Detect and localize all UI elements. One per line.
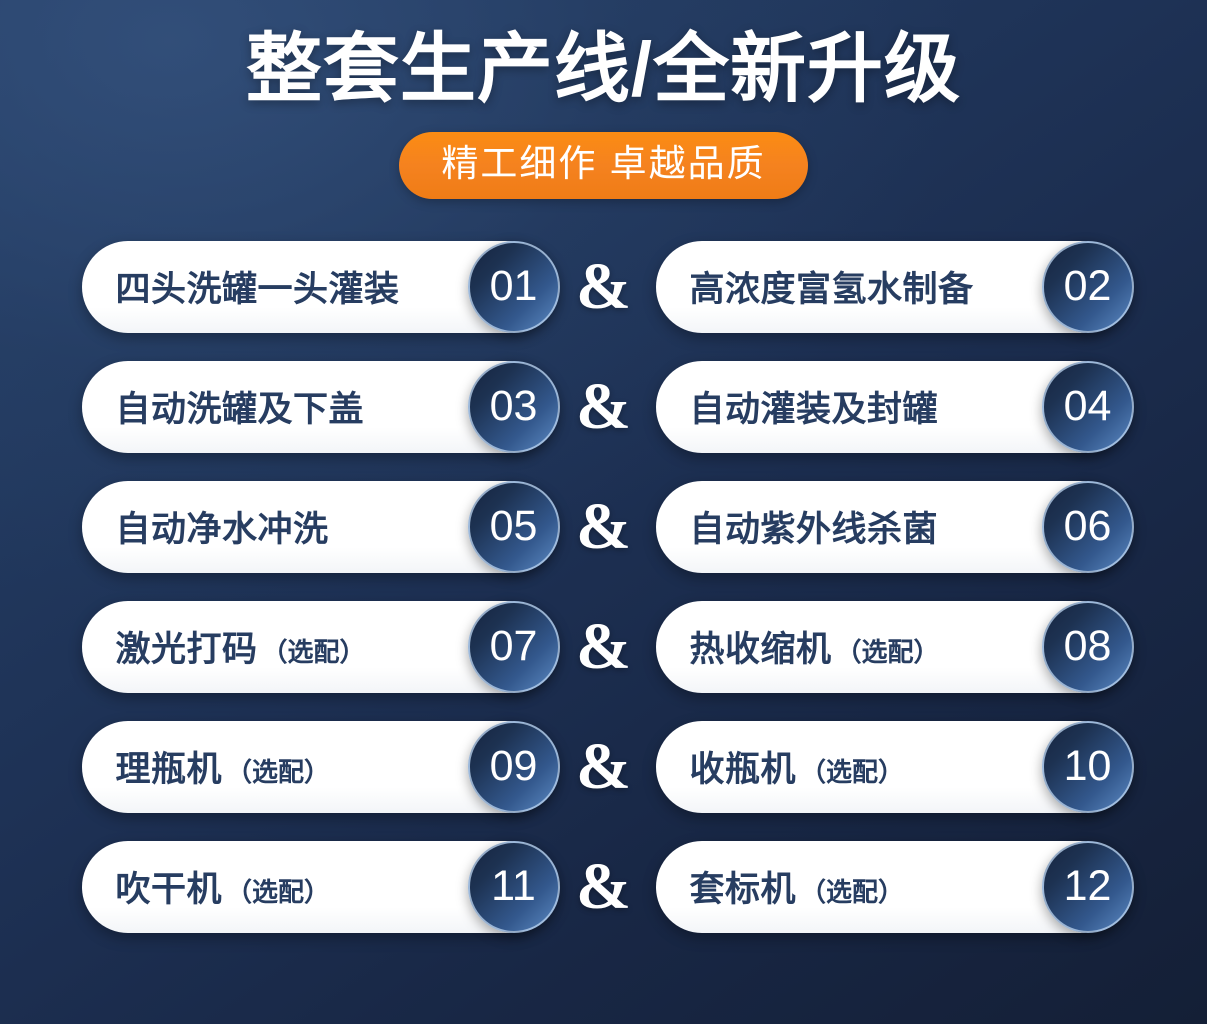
pill-number-badge: 11 — [468, 841, 560, 933]
feature-row: 理瓶机 （选配） 09 & 收瓶机 （选配） 10 — [0, 717, 1207, 817]
feature-pill-12[interactable]: 套标机 （选配） 12 — [656, 841, 1126, 933]
ampersand-separator: & — [552, 614, 656, 680]
pill-label: 收瓶机 （选配） — [690, 741, 905, 792]
pill-number-badge: 04 — [1042, 361, 1134, 453]
pill-label: 自动净水冲洗 — [116, 501, 333, 552]
pill-label-note: （选配） — [800, 752, 904, 789]
pill-number-badge: 05 — [468, 481, 560, 573]
pill-number-badge: 10 — [1042, 721, 1134, 813]
status-badge: 精工细作 卓越品质 — [399, 132, 807, 199]
feature-pill-08[interactable]: 热收缩机 （选配） 08 — [656, 601, 1126, 693]
feature-row: 四头洗罐一头灌装 01 & 高浓度富氢水制备 02 — [0, 237, 1207, 337]
feature-pill-11[interactable]: 吹干机 （选配） 11 — [82, 841, 552, 933]
pill-label-text: 热收缩机 — [690, 621, 832, 672]
pill-label-text: 自动灌装及封罐 — [690, 381, 939, 432]
pill-label: 自动洗罐及下盖 — [116, 381, 369, 432]
feature-pill-03[interactable]: 自动洗罐及下盖 03 — [82, 361, 552, 453]
pill-label-note: （选配） — [836, 632, 940, 669]
pill-label-text: 吹干机 — [116, 861, 223, 912]
pill-label: 套标机 （选配） — [690, 861, 905, 912]
pill-label-text: 四头洗罐一头灌装 — [116, 261, 400, 312]
feature-pill-06[interactable]: 自动紫外线杀菌 06 — [656, 481, 1126, 573]
pill-label-note: （选配） — [226, 752, 330, 789]
feature-pill-10[interactable]: 收瓶机 （选配） 10 — [656, 721, 1126, 813]
feature-row: 自动净水冲洗 05 & 自动紫外线杀菌 06 — [0, 477, 1207, 577]
feature-pill-09[interactable]: 理瓶机 （选配） 09 — [82, 721, 552, 813]
pill-label-text: 收瓶机 — [690, 741, 797, 792]
pill-number-badge: 12 — [1042, 841, 1134, 933]
feature-pill-05[interactable]: 自动净水冲洗 05 — [82, 481, 552, 573]
pill-label-text: 自动净水冲洗 — [116, 501, 329, 552]
pill-label-note: （选配） — [800, 872, 904, 909]
pill-label: 自动灌装及封罐 — [690, 381, 943, 432]
pill-label: 理瓶机 （选配） — [116, 741, 331, 792]
pill-number-badge: 08 — [1042, 601, 1134, 693]
pill-number-badge: 07 — [468, 601, 560, 693]
feature-pill-01[interactable]: 四头洗罐一头灌装 01 — [82, 241, 552, 333]
pill-number-badge: 02 — [1042, 241, 1134, 333]
feature-pill-02[interactable]: 高浓度富氢水制备 02 — [656, 241, 1126, 333]
page-header: 整套生产线/全新升级 精工细作 卓越品质 — [0, 0, 1207, 199]
feature-pill-07[interactable]: 激光打码 （选配） 07 — [82, 601, 552, 693]
ampersand-separator: & — [552, 374, 656, 440]
ampersand-separator: & — [552, 854, 656, 920]
pill-number-badge: 03 — [468, 361, 560, 453]
ampersand-separator: & — [552, 734, 656, 800]
feature-pill-04[interactable]: 自动灌装及封罐 04 — [656, 361, 1126, 453]
feature-row: 激光打码 （选配） 07 & 热收缩机 （选配） 08 — [0, 597, 1207, 697]
pill-label: 激光打码 （选配） — [116, 621, 366, 672]
pill-number-badge: 09 — [468, 721, 560, 813]
ampersand-separator: & — [552, 494, 656, 560]
pill-label-text: 高浓度富氢水制备 — [690, 261, 974, 312]
pill-label-note: （选配） — [262, 632, 366, 669]
subtitle-badge-container: 精工细作 卓越品质 — [0, 132, 1207, 199]
page-title: 整套生产线/全新升级 — [0, 28, 1207, 112]
pill-label-text: 自动紫外线杀菌 — [690, 501, 939, 552]
pill-label: 四头洗罐一头灌装 — [116, 261, 404, 312]
pill-label-text: 自动洗罐及下盖 — [116, 381, 365, 432]
ampersand-separator: & — [552, 254, 656, 320]
pill-label-note: （选配） — [226, 872, 330, 909]
feature-list: 四头洗罐一头灌装 01 & 高浓度富氢水制备 02 自动洗罐及下盖 03 & 自… — [0, 237, 1207, 937]
pill-label: 吹干机 （选配） — [116, 861, 331, 912]
feature-row: 自动洗罐及下盖 03 & 自动灌装及封罐 04 — [0, 357, 1207, 457]
pill-label: 热收缩机 （选配） — [690, 621, 940, 672]
pill-label: 高浓度富氢水制备 — [690, 261, 978, 312]
pill-label-text: 理瓶机 — [116, 741, 223, 792]
feature-row: 吹干机 （选配） 11 & 套标机 （选配） 12 — [0, 837, 1207, 937]
pill-number-badge: 01 — [468, 241, 560, 333]
pill-number-badge: 06 — [1042, 481, 1134, 573]
pill-label: 自动紫外线杀菌 — [690, 501, 943, 552]
pill-label-text: 套标机 — [690, 861, 797, 912]
pill-label-text: 激光打码 — [116, 621, 258, 672]
